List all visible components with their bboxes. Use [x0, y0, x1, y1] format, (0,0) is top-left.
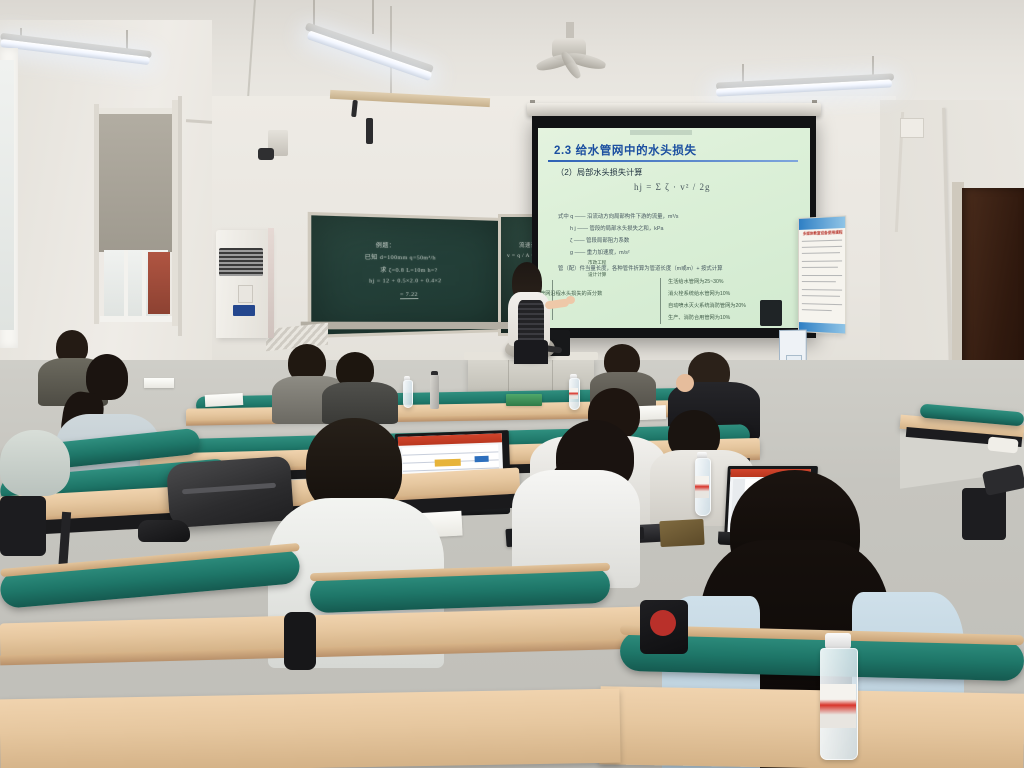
slide-bullet: 生活给水管网为25~30%	[668, 278, 724, 285]
slide-equation: hj = Σ ζ · v² / 2g	[634, 182, 711, 192]
highlighted-cell	[435, 459, 461, 467]
thermos-bottle	[430, 375, 439, 409]
backpack-logo	[650, 610, 676, 636]
bottle-label	[569, 388, 578, 399]
instructor-trousers	[514, 340, 548, 364]
light-rod	[372, 0, 374, 34]
air-conditioner-grille	[219, 248, 263, 276]
slide-legend-line: g —— 重力加速度，m/s²	[570, 248, 630, 256]
speaker	[366, 118, 373, 144]
desk-foreground-right	[599, 686, 1024, 768]
window-post	[94, 104, 99, 324]
chalk-tray	[301, 322, 508, 330]
window-roller-blind[interactable]	[99, 114, 172, 252]
bag-on-seat	[284, 612, 316, 670]
chalk-line: 例题：	[376, 241, 396, 250]
green-notebook	[506, 394, 542, 406]
chalk-line: = 7.22	[400, 292, 418, 300]
light-rod	[313, 0, 315, 26]
slide-header-strip	[630, 130, 692, 135]
slide-subtitle: （2）局部水头损失计算	[556, 166, 642, 178]
classroom-photo: 例题： 已知 d=100mm q=50m³/h 求 ζ=0.8 L=10m h=…	[0, 0, 1024, 768]
slide-legend-line: 式中 q —— 沿流动方向局部构件下游的流量，m³/s	[558, 212, 678, 220]
air-conditioner[interactable]	[216, 230, 270, 338]
brick-building-outside	[148, 252, 170, 314]
wall-speaker	[760, 300, 782, 326]
paper-left	[144, 378, 174, 388]
slide-note: 管（配）件当量长度，各种管件折算为管道长度（m或m）+ 按式计算	[558, 264, 723, 272]
laptop-app-toolbar	[398, 433, 502, 445]
chair-side-right[interactable]	[962, 488, 1006, 540]
student-far-left-foreground	[0, 430, 70, 496]
poster-header-band	[799, 216, 845, 229]
seat-back-far-left	[0, 496, 46, 556]
wall-notice-poster: 多媒体教室设备使用规程	[798, 215, 846, 334]
slide-bullet: 生产、消防合用管网为10%	[668, 314, 730, 321]
window-left-glass	[0, 60, 14, 330]
student-front-right-hand	[676, 374, 694, 392]
chalk-line: 已知 d=100mm q=50m³/h	[365, 252, 436, 261]
paper-on-side-desk	[987, 436, 1018, 453]
blackboard-left-panel: 例题： 已知 d=100mm q=50m³/h 求 ζ=0.8 L=10m h=…	[308, 212, 503, 338]
slide-title: 2.3 给水管网中的水头损失	[554, 142, 697, 158]
security-camera	[258, 148, 274, 160]
projector-screen-roller[interactable]	[527, 103, 821, 116]
light-rod	[742, 64, 744, 82]
light-rod	[872, 56, 874, 76]
slide-side-label: 市政工程	[588, 260, 606, 266]
chart-element	[475, 456, 489, 462]
slide-legend-line: h j —— 管段的局部水头损失之和，kPa	[570, 224, 663, 232]
slide-bullet: 自动喷水灭火系统消防管网为20%	[668, 302, 746, 309]
window-sill	[100, 316, 172, 322]
foreground-bottle-cap	[825, 633, 851, 649]
slide-brace-right	[660, 278, 661, 324]
air-conditioner-label	[233, 305, 255, 316]
desk-foreground-left	[0, 689, 621, 768]
poster-title: 多媒体教室设备使用规程	[803, 230, 843, 237]
foreground-bottle-label	[820, 684, 856, 728]
slide-legend-line: ζ —— 管段局部阻力系数	[570, 236, 629, 244]
bottle-label	[695, 476, 709, 498]
book-on-desk	[659, 519, 704, 547]
wall-pipe	[178, 96, 182, 336]
projected-slide: 2.3 给水管网中的水头损失 （2）局部水头损失计算 hj = Σ ζ · v²…	[538, 128, 810, 328]
chalk-line: 求 ζ=0.8 L=10m h=?	[380, 265, 437, 274]
slide-side-label: 设计计算	[588, 272, 606, 278]
dark-object-on-desk	[138, 520, 190, 542]
window-mullion	[142, 250, 146, 320]
slide-title-rule	[548, 160, 798, 162]
slide-bullet: 消火栓系统给水管网为10%	[668, 290, 730, 297]
window-mullion	[124, 250, 128, 320]
instructor-hand	[566, 296, 575, 304]
air-conditioner-side	[268, 228, 274, 338]
paper-row2	[205, 393, 244, 407]
air-conditioner-display	[238, 285, 253, 303]
wall-box	[900, 118, 924, 138]
water-bottle-row2b	[403, 380, 413, 408]
chalk-line: hj = 12 + 0.5×2.0 + 0.4×2	[369, 278, 441, 285]
